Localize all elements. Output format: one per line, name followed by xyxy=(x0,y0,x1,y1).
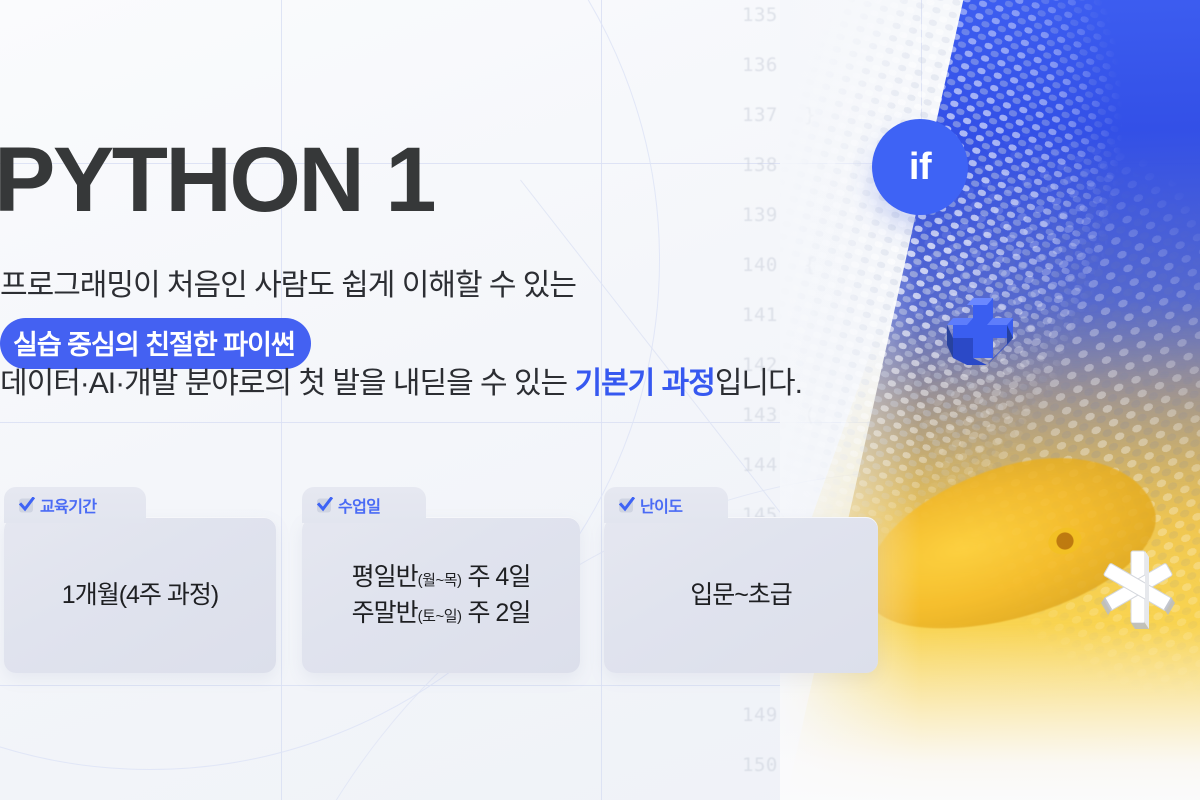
check-box-icon xyxy=(18,497,35,514)
info-card-days-value: 평일반(월~목) 주 4일 주말반(토~일) 주 2일 xyxy=(342,559,541,632)
code-line-source: { xyxy=(804,240,816,290)
page-title: PYTHON 1 xyxy=(0,134,434,226)
code-line-number: 140 xyxy=(742,240,804,290)
code-line: 138 xyxy=(742,140,1200,190)
code-line-source: } xyxy=(804,90,816,140)
code-line: 136 xyxy=(742,40,1200,90)
info-card-level[interactable]: 난이도 입문~초급 xyxy=(604,487,878,673)
info-card-level-tab: 난이도 xyxy=(604,487,728,523)
code-line-number: 144 xyxy=(742,440,804,490)
info-card-level-label: 난이도 xyxy=(640,493,682,517)
days-weekday-label: 평일반 xyxy=(352,563,418,591)
code-line-number: 135 xyxy=(742,0,804,40)
if-badge-label: if xyxy=(909,146,931,189)
course-hero-banner: 135136137}138139140{141142143(144145146(… xyxy=(0,0,1200,800)
info-card-level-body: 입문~초급 xyxy=(604,517,878,673)
info-card-duration-tab: 교육기간 xyxy=(4,487,146,523)
code-line: 135 xyxy=(742,0,1200,40)
if-keyword-badge: if xyxy=(872,119,968,215)
code-line-number: 137 xyxy=(742,90,804,140)
code-line-number: 151 xyxy=(742,790,804,800)
code-line-source: ( xyxy=(804,390,816,440)
info-card-days-tab: 수업일 xyxy=(302,487,426,523)
info-card-days-row: 주말반(토~일) 주 2일 xyxy=(352,595,531,631)
code-line-number: 136 xyxy=(742,40,804,90)
code-line-number: 150 xyxy=(742,740,804,790)
code-line-source: swap(points[0], po xyxy=(804,740,1019,790)
hero-line3-after: 입니다. xyxy=(715,367,802,400)
code-line: 140{ xyxy=(742,240,1200,290)
code-line-number: 141 xyxy=(742,290,804,340)
info-card-level-value: 입문~초급 xyxy=(680,577,802,613)
hero-line3-highlight: 기본기 과정 xyxy=(574,367,714,400)
code-line-number: 149 xyxy=(742,690,804,740)
code-line: 150swap(points[0], po xyxy=(742,740,1200,790)
code-line-number: 138 xyxy=(742,140,804,190)
info-card-days[interactable]: 수업일 평일반(월~목) 주 4일 주말반(토~일) 주 2일 xyxy=(302,487,580,673)
hero-subtitle-line-3: 데이터·AI·개발 분야로의 첫 발을 내딛을 수 있는 기본기 과정입니다. xyxy=(0,366,802,402)
code-line: 137} xyxy=(742,90,1200,140)
code-line-number: 139 xyxy=(742,190,804,240)
check-box-icon xyxy=(316,497,333,514)
days-weekday-count: 주 4일 xyxy=(462,563,531,591)
info-card-days-row: 평일반(월~목) 주 4일 xyxy=(352,559,531,595)
info-card-group: 교육기간 1개월(4주 과정) 수업일 평일반(월~목) 주 4일 주말 xyxy=(0,487,1200,687)
code-line: 144 xyxy=(742,440,1200,490)
check-box-icon xyxy=(618,497,635,514)
days-weekday-range: (월~목) xyxy=(418,572,462,589)
code-line: 139 xyxy=(742,190,1200,240)
days-weekend-count: 주 2일 xyxy=(462,599,531,627)
info-card-days-body: 평일반(월~목) 주 4일 주말반(토~일) 주 2일 xyxy=(302,517,580,673)
info-card-duration-value: 1개월(4주 과정) xyxy=(52,577,228,613)
hero-line3-before: 데이터·AI·개발 분야로의 첫 발을 내딛을 수 있는 xyxy=(0,367,574,400)
code-line: 151 xyxy=(742,790,1200,800)
info-card-duration-label: 교육기간 xyxy=(40,493,96,517)
code-line: 143( xyxy=(742,390,1200,440)
days-weekend-label: 주말반 xyxy=(352,599,418,627)
days-weekend-range: (토~일) xyxy=(418,608,462,625)
info-card-duration[interactable]: 교육기간 1개월(4주 과정) xyxy=(4,487,276,673)
info-card-duration-body: 1개월(4주 과정) xyxy=(4,517,276,673)
hero-subtitle-line-1: 프로그래밍이 처음인 사람도 쉽게 이해할 수 있는 xyxy=(0,268,576,304)
code-line: 149 xyxy=(742,690,1200,740)
info-card-days-label: 수업일 xyxy=(338,493,380,517)
hero-highlight-pill: 실습 중심의 친절한 파이썬 xyxy=(0,318,311,369)
plus-3d-icon xyxy=(946,296,1020,366)
